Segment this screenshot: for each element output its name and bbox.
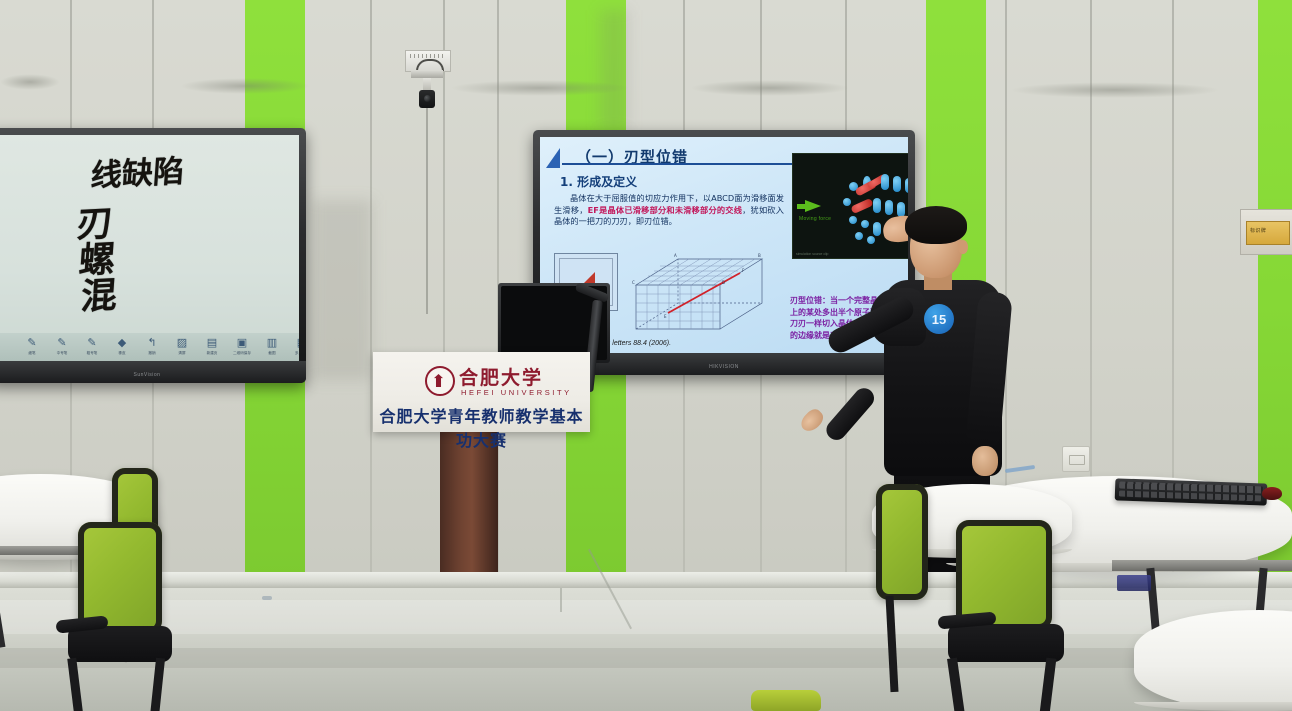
pen-icon[interactable]: ✎粗号笔 [77, 338, 107, 356]
podium-sign: 合肥大学 HEFEI UNIVERSITY 合肥大学青年教师教学基本功大赛 [373, 352, 590, 432]
atom [893, 176, 901, 192]
chair [60, 522, 176, 711]
whiteboard-tools-right[interactable]: ▣二维码保存 ▥截图 ▧多人书写 [227, 338, 299, 356]
chair-seat [68, 626, 172, 662]
camera-icon[interactable]: ▥截图 [257, 338, 287, 356]
handwriting-line: 刃 [76, 206, 115, 244]
atom [881, 174, 889, 190]
floor-joint [560, 588, 562, 612]
handwriting-line: 混 [80, 278, 119, 316]
camera-vent [410, 54, 446, 58]
display-brand: HIKVISION [709, 364, 739, 370]
wall-shadow [312, 200, 372, 380]
whiteboard-toolbar[interactable]: ✎细笔 ✎中号笔 ✎粗号笔 ◆橡皮 ↰撤销 ▨清屏 ▤新建页 ▣二维码保存 ▥截… [0, 333, 299, 361]
save-icon[interactable]: ▣二维码保存 [227, 338, 257, 356]
whiteboard-tools-left[interactable]: ✎细笔 ✎中号笔 ✎粗号笔 ◆橡皮 ↰撤销 ▨清屏 ▤新建页 [17, 338, 227, 356]
presenter-hair [905, 206, 967, 244]
simulation-credit: simulation source clip [796, 252, 828, 256]
chair-seat [948, 624, 1064, 662]
mouse[interactable] [1262, 487, 1282, 500]
floor-object [751, 690, 821, 711]
camera-lens-icon [424, 95, 431, 102]
baseboard [0, 572, 1292, 588]
new-page-icon[interactable]: ▤新建页 [197, 338, 227, 356]
plaque-label: 标识牌 [1250, 227, 1266, 234]
pen-icon[interactable]: ✎中号笔 [47, 338, 77, 356]
whiteboard-bezel: SunVision [0, 361, 306, 383]
wall-smudge [0, 74, 60, 90]
body-emphasis: EF是晶体已滑移部分和未滑移部分的交线 [588, 205, 742, 215]
clear-icon[interactable]: ▨清屏 [167, 338, 197, 356]
wall-shadow [600, 10, 628, 130]
lattice-svg: AB CD EF [628, 245, 770, 345]
wall-smudge [180, 78, 310, 94]
floor-band [0, 648, 1292, 668]
svg-text:D: D [722, 280, 725, 285]
wall-plaque: 标识牌 [1240, 209, 1292, 255]
handwriting-line: 螺 [78, 242, 117, 280]
slide-section-heading: 1. 形成及定义 [560, 173, 637, 190]
chair-leg [1038, 658, 1057, 711]
whiteboard-screen[interactable]: 线缺陷 刃 螺 混 ✎细笔 ✎中号笔 ✎粗号笔 ◆橡皮 ↰撤销 ▨清屏 ▤新建页… [0, 135, 299, 361]
share-icon[interactable]: ▧多人书写 [287, 338, 299, 356]
force-arrow-icon [805, 200, 821, 212]
university-name-cn: 合肥大学 [459, 363, 543, 390]
svg-text:B: B [758, 253, 761, 258]
slide-body-text: 晶体在大于屈服值的切应力作用下，以ABCD面为滑移面发生滑移，EF是晶体已滑移部… [554, 193, 784, 228]
floor-marker [262, 596, 272, 600]
camera-housing [405, 50, 451, 72]
svg-text:F: F [742, 268, 745, 273]
competition-banner: 合肥大学青年教师教学基本功大赛 [373, 403, 590, 451]
undo-icon[interactable]: ↰撤销 [137, 338, 167, 356]
desk-box [1117, 575, 1151, 591]
participant-badge: 15 [924, 304, 954, 334]
floor-band [0, 600, 1292, 634]
whiteboard-canvas[interactable]: 线缺陷 刃 螺 混 [0, 135, 299, 361]
wall-smudge [1010, 82, 1220, 98]
chair-leg [947, 658, 967, 711]
university-name-en: HEFEI UNIVERSITY [461, 388, 572, 397]
simulation-label: Moving force [799, 216, 831, 222]
presenter-ear [958, 240, 968, 254]
eraser-icon[interactable]: ◆橡皮 [107, 338, 137, 356]
svg-text:A: A [674, 253, 677, 258]
atom [905, 178, 908, 193]
svg-text:C: C [632, 280, 635, 285]
interactive-whiteboard[interactable]: 线缺陷 刃 螺 混 ✎细笔 ✎中号笔 ✎粗号笔 ◆橡皮 ↰撤销 ▨清屏 ▤新建页… [0, 128, 306, 383]
camera-cable [426, 108, 428, 314]
crystal-lattice-diagram: AB CD EF [628, 245, 770, 345]
handwriting-heading: 线缺陷 [90, 157, 186, 193]
chair-leg [67, 658, 85, 711]
whiteboard-brand: SunVision [134, 372, 161, 378]
wall-smudge [690, 80, 850, 96]
presenter-right-hand [972, 446, 998, 476]
chair-leg [148, 658, 165, 711]
classroom-scene: 标识牌 线缺陷 刃 螺 混 ✎细笔 ✎中号笔 ✎粗号笔 ◆橡皮 ↰撤销 ▨清屏 … [0, 0, 1292, 711]
chair [942, 520, 1092, 710]
chair-backrest [876, 484, 928, 600]
plaque-plate: 标识牌 [1246, 221, 1290, 245]
title-accent-icon [546, 148, 560, 168]
power-outlet[interactable] [1062, 446, 1090, 472]
hefei-university-crest-icon [425, 366, 455, 396]
camera-bracket [411, 70, 443, 78]
pen-icon[interactable]: ✎细笔 [17, 338, 47, 356]
svg-text:E: E [664, 314, 667, 319]
badge-number: 15 [932, 312, 946, 327]
